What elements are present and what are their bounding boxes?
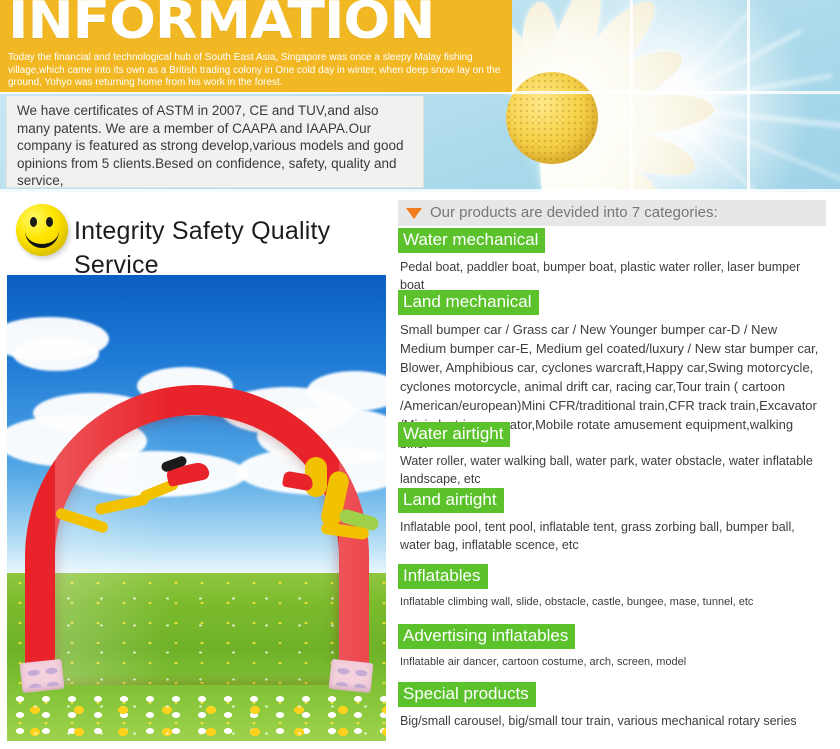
category-advertising-inflatables: Advertising inflatables Inflatable air d… [398,624,834,670]
category-inflatables: Inflatables Inflatable climbing wall, sl… [398,564,834,610]
banner-paragraph: Today the financial and technological hu… [8,52,504,90]
category-title: Land mechanical [398,290,539,315]
arch-foot-right [329,659,374,693]
arch-foot-left [20,659,65,693]
products-header-bar: Our products are devided into 7 categori… [398,200,826,226]
category-title: Advertising inflatables [398,624,575,649]
slogan-text: Integrity Safety Quality Service [74,214,392,282]
triangle-down-icon [406,208,422,219]
slogan-row: Integrity Safety Quality Service [6,200,392,262]
category-water-airtight: Water airtight Water roller, water walki… [398,422,834,488]
category-description: Big/small carousel, big/small tour train… [400,712,824,730]
dragon-decoration-left [43,459,203,549]
product-info-page: INFORMATION Today the financial and tech… [0,0,840,749]
certificates-text: We have certificates of ASTM in 2007, CE… [17,102,415,190]
left-column: Integrity Safety Quality Service [0,192,392,749]
category-special-products: Special products Big/small carousel, big… [398,682,834,730]
dragon-decoration-right [229,451,379,561]
category-title: Inflatables [398,564,488,589]
product-photo-arch [6,274,387,742]
daisy-center [506,72,598,164]
category-title: Land airtight [398,488,504,513]
category-title: Water mechanical [398,228,545,253]
category-description: Inflatable air dancer, cartoon costume, … [400,654,824,670]
category-description: Water roller, water walking ball, water … [400,452,824,488]
products-header-text: Our products are devided into 7 categori… [430,203,718,223]
page-title: INFORMATION [8,0,434,51]
banner-headline-block: INFORMATION Today the financial and tech… [0,0,512,92]
wildflowers [7,695,386,741]
header-banner: INFORMATION Today the financial and tech… [0,0,840,192]
smiley-mouth [25,222,59,248]
products-column: Our products are devided into 7 categori… [392,192,840,749]
category-description: Inflatable pool, tent pool, inflatable t… [400,518,824,554]
category-land-airtight: Land airtight Inflatable pool, tent pool… [398,488,834,554]
certificates-box: We have certificates of ASTM in 2007, CE… [6,96,424,188]
category-water-mechanical: Water mechanical Pedal boat, paddler boa… [398,228,834,294]
smiley-face-icon [16,204,68,256]
category-description: Pedal boat, paddler boat, bumper boat, p… [400,258,824,294]
category-description: Inflatable climbing wall, slide, obstacl… [400,594,824,610]
category-title: Special products [398,682,536,707]
category-title: Water airtight [398,422,510,447]
